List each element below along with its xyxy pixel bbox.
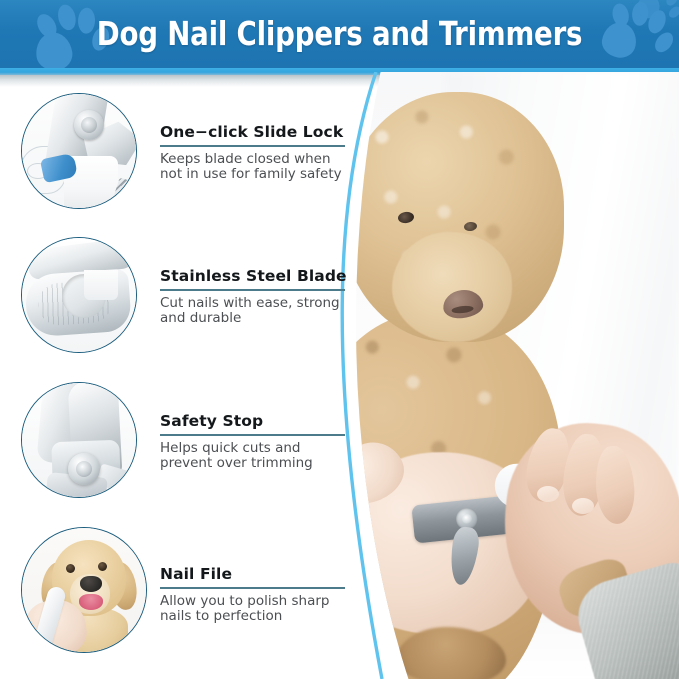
feature-title: Safety Stop (160, 412, 345, 430)
feature-underline (160, 434, 345, 436)
feature-title: Nail File (160, 565, 345, 583)
header-banner: Dog Nail Clippers and Trimmers (0, 0, 679, 68)
hero-photo (296, 72, 679, 679)
feature-title: One−click Slide Lock (160, 123, 345, 141)
hero-photo-image (296, 72, 679, 679)
dog-muzzle (392, 232, 512, 342)
feature-description: Keeps blade closed when not in use for f… (160, 152, 345, 183)
feature-image-safety-stop (21, 382, 137, 498)
infographic-page: Dog Nail Clippers and Trimmers (0, 0, 679, 679)
feature-underline (160, 289, 345, 291)
feature-image-slide-lock (21, 93, 137, 209)
pivot-screw-icon (74, 110, 104, 140)
fingernail-1 (537, 486, 559, 502)
feature-underline (160, 145, 345, 147)
feature-image-nail-file (21, 527, 147, 653)
pivot-screw-icon (68, 453, 100, 485)
feature-description: Helps quick cuts and prevent over trimmi… (160, 441, 345, 472)
feature-underline (160, 587, 345, 589)
feature-description: Allow you to polish sharp nails to perfe… (160, 594, 345, 625)
feature-title: Stainless Steel Blade (160, 267, 345, 285)
feature-description: Cut nails with ease, strong and durable (160, 296, 345, 327)
fingernail-2 (572, 498, 594, 514)
feature-image-stainless-blade (21, 237, 137, 353)
page-title: Dog Nail Clippers and Trimmers (24, 14, 655, 53)
